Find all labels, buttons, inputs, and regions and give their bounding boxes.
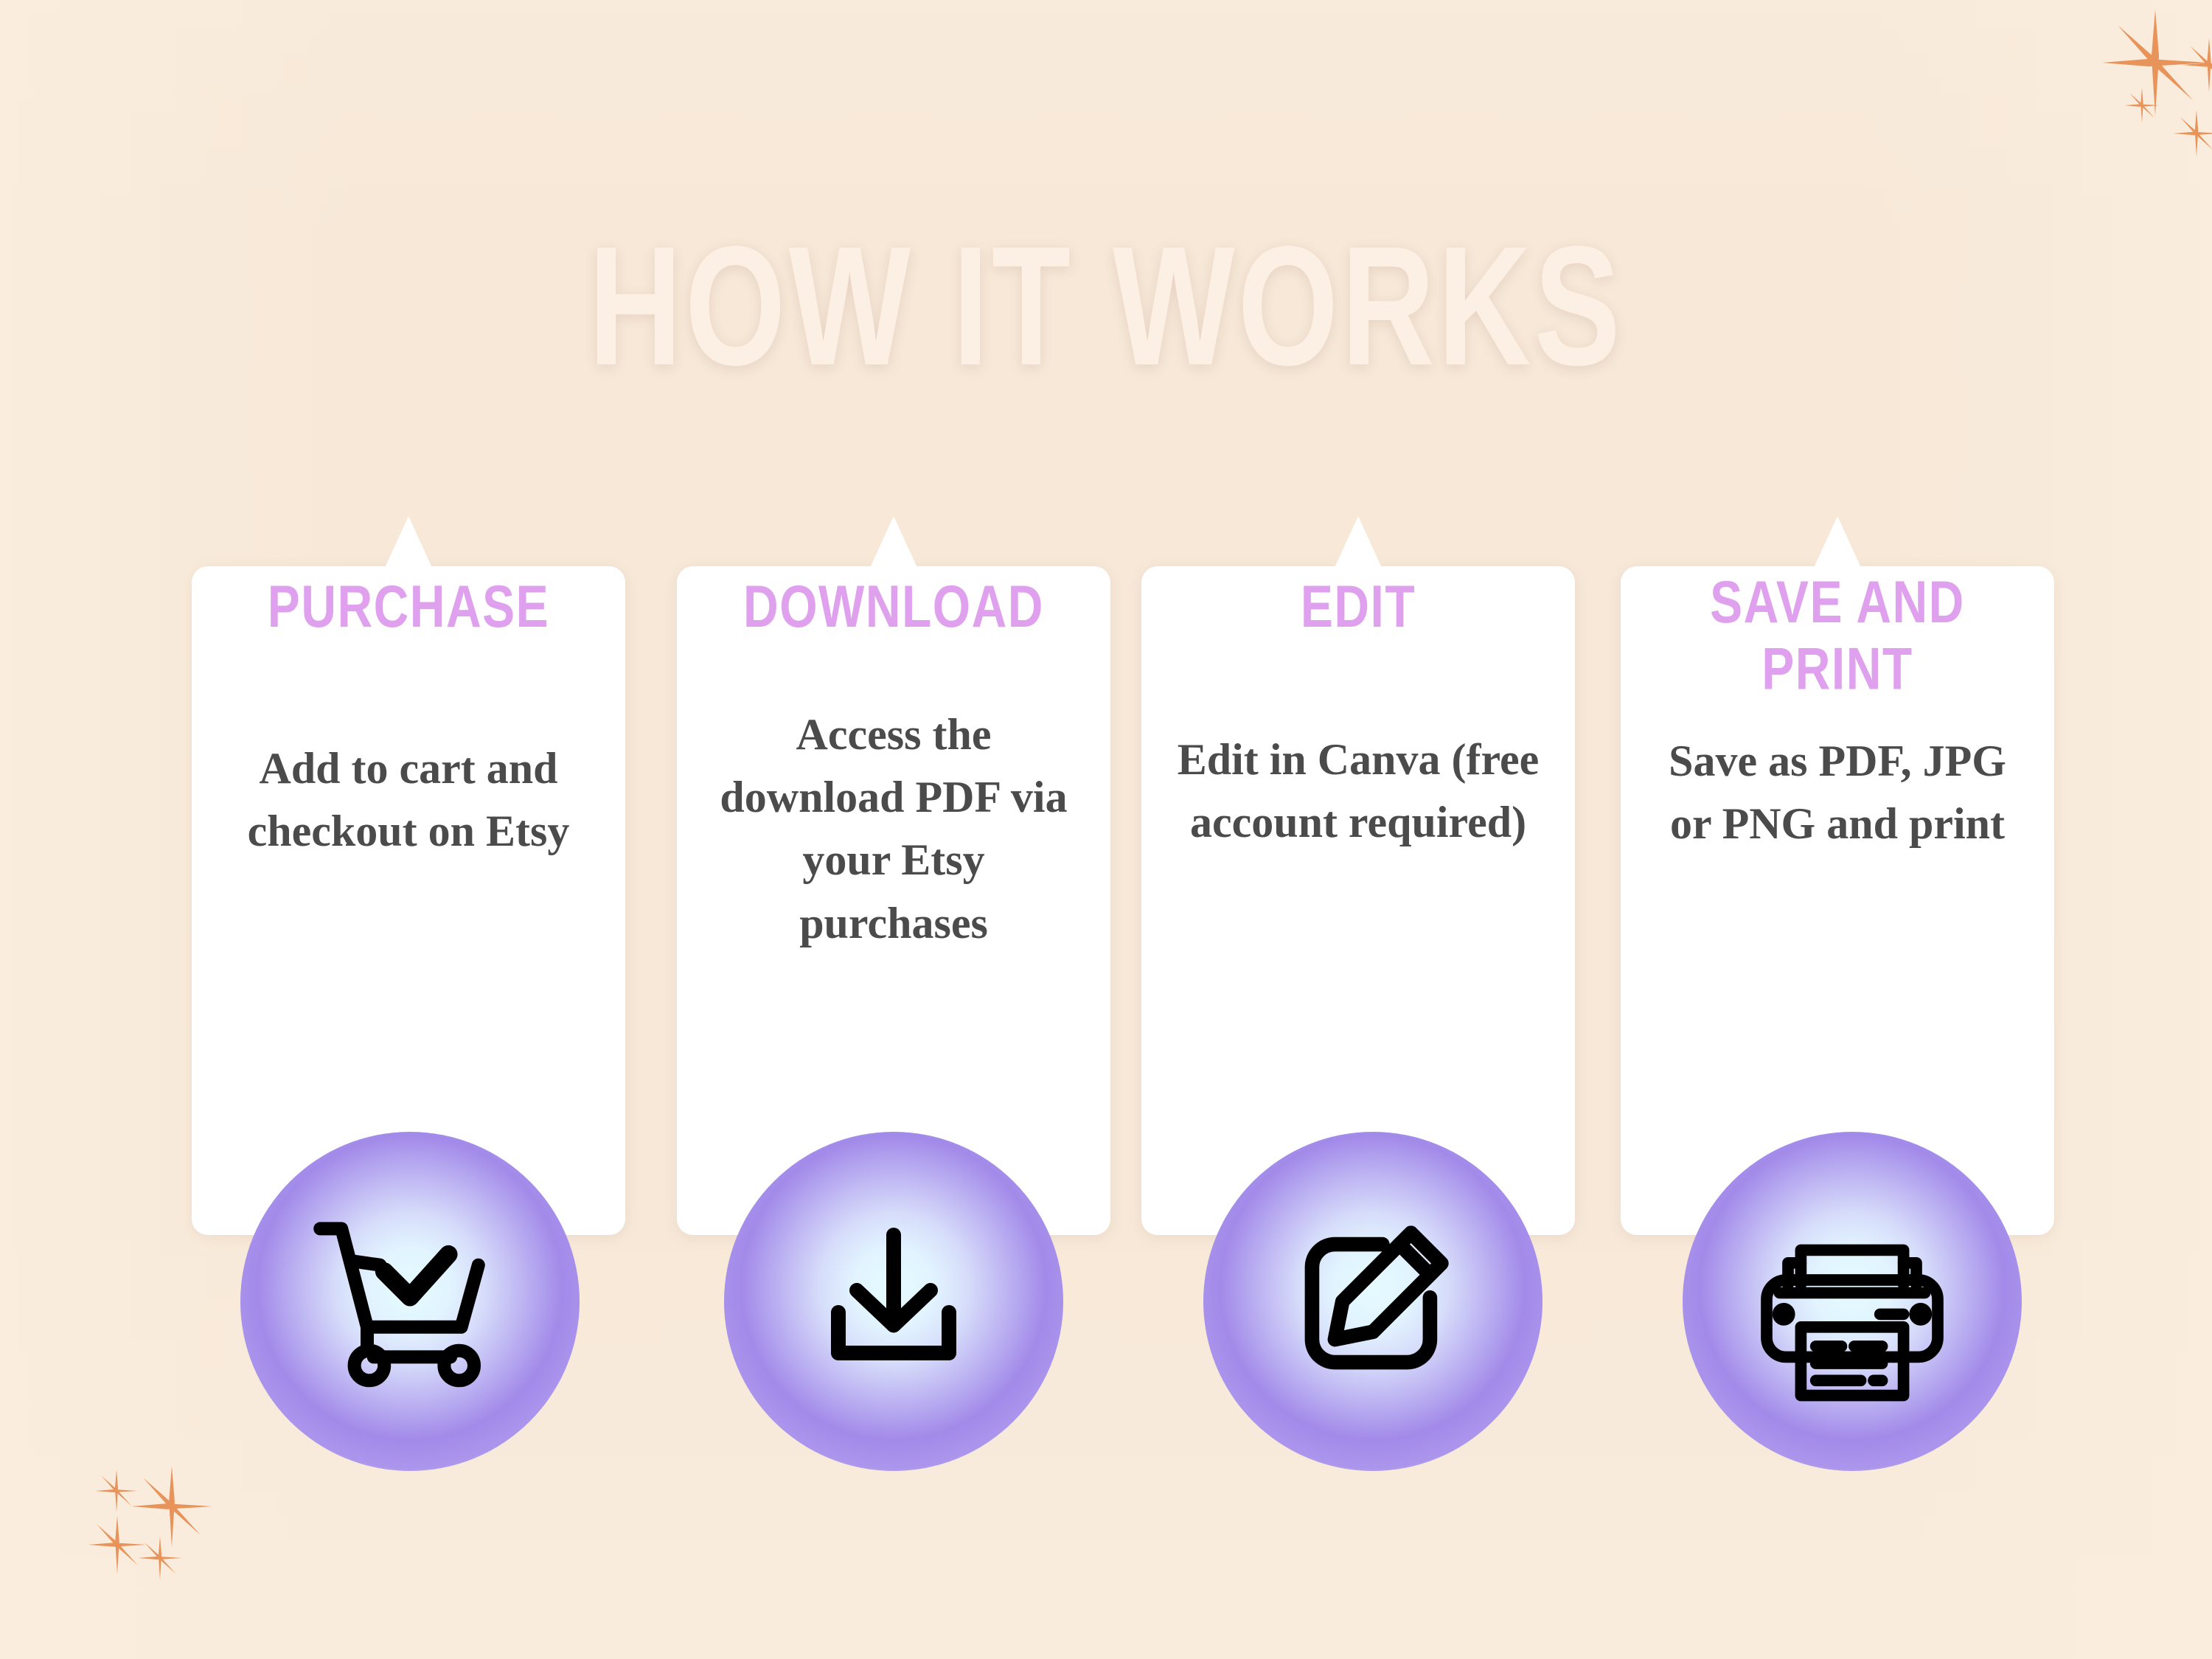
step-card-save-and-print[interactable]: SAVE AND PRINT Save as PDF, JPG or PNG a… (1621, 516, 2054, 1235)
card-notch (1334, 516, 1382, 569)
shopping-cart-check-icon (303, 1194, 517, 1408)
step-card-purchase[interactable]: PURCHASE Add to cart and checkout on Ets… (192, 516, 625, 1235)
pencil-edit-square-icon (1278, 1206, 1468, 1397)
card-notch (869, 516, 918, 569)
step-description: Add to cart and checkout on Etsy (218, 737, 599, 863)
card-notch (1813, 516, 1862, 569)
card-notch (384, 516, 433, 569)
step-heading: SAVE AND PRINT (1634, 569, 2041, 702)
step-heading: PURCHASE (205, 574, 612, 640)
download-icon-badge[interactable] (724, 1132, 1063, 1471)
step-heading: EDIT (1155, 574, 1562, 640)
step-description: Edit in Canva (free account required) (1168, 728, 1548, 854)
step-description: Access the download PDF via your Etsy pu… (703, 703, 1084, 955)
printer-icon (1745, 1194, 1959, 1408)
edit-icon-badge[interactable] (1203, 1132, 1543, 1471)
purchase-icon-badge[interactable] (240, 1132, 580, 1471)
print-icon-badge[interactable] (1683, 1132, 2022, 1471)
download-tray-icon (801, 1209, 986, 1394)
step-card-edit[interactable]: EDIT Edit in Canva (free account require… (1141, 516, 1575, 1235)
step-heading: DOWNLOAD (690, 574, 1097, 640)
step-description: Save as PDF, JPG or PNG and print (1647, 730, 2028, 855)
step-card-download[interactable]: DOWNLOAD Access the download PDF via you… (677, 516, 1110, 1235)
